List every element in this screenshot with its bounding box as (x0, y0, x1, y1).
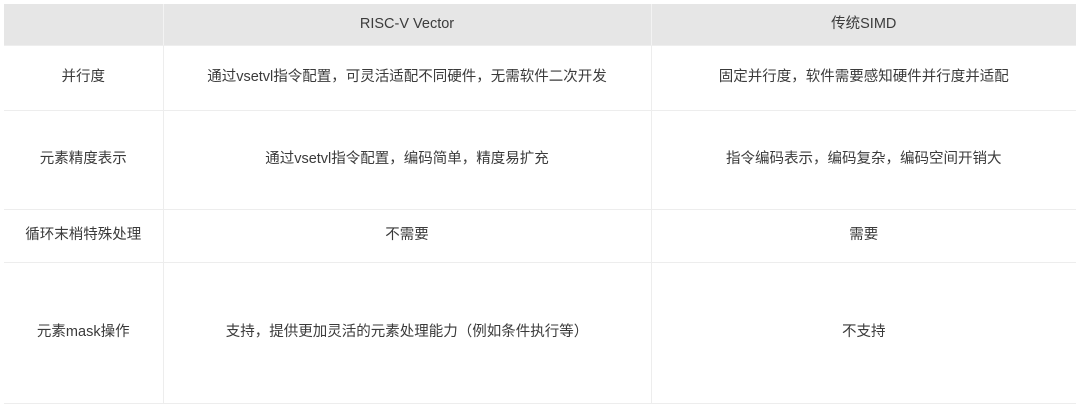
row-label-parallelism: 并行度 (4, 45, 163, 110)
table-header-row: RISC-V Vector 传统SIMD (4, 4, 1076, 45)
comparison-table-container: RISC-V Vector 传统SIMD 并行度 通过vsetvl指令配置，可灵… (4, 4, 1076, 404)
cell-simd-element-precision: 指令编码表示，编码复杂，编码空间开销大 (651, 110, 1076, 209)
table-body: 并行度 通过vsetvl指令配置，可灵活适配不同硬件，无需软件二次开发 固定并行… (4, 45, 1076, 403)
cell-riscv-parallelism: 通过vsetvl指令配置，可灵活适配不同硬件，无需软件二次开发 (163, 45, 651, 110)
cell-riscv-loop-tail: 不需要 (163, 209, 651, 262)
cell-riscv-element-mask: 支持，提供更加灵活的元素处理能力（例如条件执行等） (163, 262, 651, 403)
cell-simd-parallelism: 固定并行度，软件需要感知硬件并行度并适配 (651, 45, 1076, 110)
row-label-element-mask: 元素mask操作 (4, 262, 163, 403)
cell-riscv-element-precision: 通过vsetvl指令配置，编码简单，精度易扩充 (163, 110, 651, 209)
table-row: 元素精度表示 通过vsetvl指令配置，编码简单，精度易扩充 指令编码表示，编码… (4, 110, 1076, 209)
column-header-blank (4, 4, 163, 45)
column-header-riscv-vector: RISC-V Vector (163, 4, 651, 45)
column-header-traditional-simd: 传统SIMD (651, 4, 1076, 45)
table-header: RISC-V Vector 传统SIMD (4, 4, 1076, 45)
table-row: 循环末梢特殊处理 不需要 需要 (4, 209, 1076, 262)
row-label-element-precision: 元素精度表示 (4, 110, 163, 209)
cell-simd-loop-tail: 需要 (651, 209, 1076, 262)
table-row: 元素mask操作 支持，提供更加灵活的元素处理能力（例如条件执行等） 不支持 (4, 262, 1076, 403)
row-label-loop-tail: 循环末梢特殊处理 (4, 209, 163, 262)
table-row: 并行度 通过vsetvl指令配置，可灵活适配不同硬件，无需软件二次开发 固定并行… (4, 45, 1076, 110)
cell-simd-element-mask: 不支持 (651, 262, 1076, 403)
comparison-table: RISC-V Vector 传统SIMD 并行度 通过vsetvl指令配置，可灵… (4, 4, 1076, 404)
